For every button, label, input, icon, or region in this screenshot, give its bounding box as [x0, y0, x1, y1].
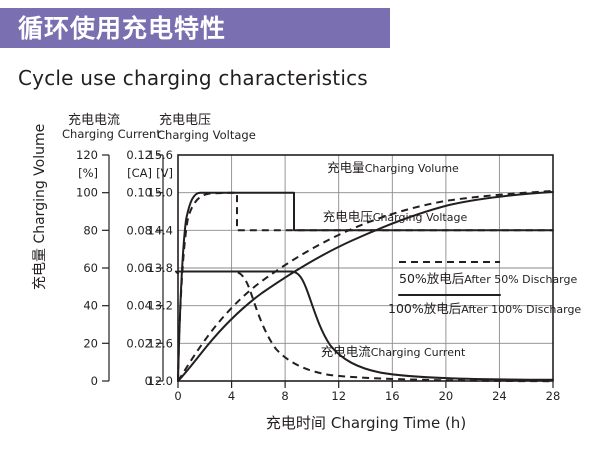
plot-annotations: 充电量Charging Volume 充电电压Charging Voltage …	[321, 160, 582, 359]
ann-d50-en: After 50% Discharge	[464, 273, 577, 286]
volume-axis-title-text: 充电量 Charging Volume	[32, 124, 48, 290]
ann-current-en: Charging Current	[371, 346, 466, 359]
volume-tick-20: 20	[83, 336, 98, 350]
voltage-tick-138: 13.8	[147, 261, 173, 275]
ann-d100-en: After 100% Discharge	[461, 303, 581, 316]
current-axis-title-en: Charging Current	[62, 127, 161, 141]
time-tick-12: 12	[331, 389, 346, 403]
volume-tick-40: 40	[83, 299, 98, 313]
voltage-tick-156: 15.6	[147, 148, 173, 162]
current-unit: [CA]	[127, 166, 152, 180]
volume-tick-100: 100	[76, 186, 98, 200]
time-tick-24: 24	[492, 389, 507, 403]
ann-current: 充电电流Charging Current	[321, 344, 466, 359]
voltage-unit: [V]	[156, 166, 173, 180]
x-axis-title-cn: 充电时间	[266, 414, 326, 432]
voltage-tick-144: 14.4	[147, 223, 173, 237]
volume-tick-80: 80	[83, 223, 98, 237]
voltage-tick-132: 13.2	[147, 299, 173, 313]
ann-volume: 充电量Charging Volume	[327, 160, 459, 175]
ann-after-50-discharge: 50%放电后After 50% Discharge	[399, 271, 577, 286]
volume-tick-0: 0	[91, 374, 98, 388]
voltage-axis-title-cn: 充电电压	[159, 112, 211, 128]
voltage-tick-150: 15.0	[147, 186, 173, 200]
x-axis-title: 充电时间 Charging Time (h)	[266, 413, 466, 432]
volume-tick-120: 120	[76, 148, 98, 162]
x-axis-labels: 0 4 8 12 16 20 24 28	[174, 389, 560, 403]
ann-current-cn: 充电电流	[321, 344, 372, 359]
voltage-tick-120: 12.0	[147, 374, 173, 388]
time-tick-8: 8	[281, 389, 288, 403]
x-axis-title-en: Charging Time (h)	[331, 414, 466, 432]
ann-volume-cn: 充电量	[327, 160, 365, 175]
time-tick-4: 4	[228, 389, 235, 403]
volume-axis: 120 [%] 100 80 60 40 20 0	[76, 148, 109, 388]
ann-after-100-discharge: 100%放电后After 100% Discharge	[388, 301, 581, 316]
ann-voltage-cn: 充电电压	[323, 209, 373, 224]
time-tick-0: 0	[174, 389, 181, 403]
volume-axis-ticks	[102, 155, 109, 381]
cycle-charging-characteristics-chart: 充电电流 Charging Current 充电电压 Charging Volt…	[0, 0, 600, 451]
voltage-tick-126: 12.6	[147, 336, 173, 350]
curve-current-100pct	[176, 272, 553, 380]
ann-voltage: 充电电压Charging Voltage	[323, 209, 468, 224]
ann-volume-en: Charging Volume	[365, 162, 459, 175]
volume-tick-60: 60	[83, 261, 98, 275]
time-tick-16: 16	[385, 389, 400, 403]
volume-axis-title-en: Charging Volume	[32, 124, 48, 244]
ann-voltage-en: Charging Voltage	[373, 211, 468, 224]
current-axis-title-cn: 充电电流	[68, 112, 120, 128]
ann-d50-cn: 50%放电后	[399, 271, 464, 286]
curve-current-50pct	[178, 272, 553, 382]
x-axis-ticks	[178, 381, 553, 388]
volume-axis-title-cn: 充电量	[32, 248, 48, 290]
time-tick-20: 20	[439, 389, 454, 403]
volume-unit: [%]	[78, 166, 98, 180]
chart-container: 充电电流 Charging Current 充电电压 Charging Volt…	[0, 0, 600, 451]
voltage-axis-title-en: Charging Voltage	[157, 128, 256, 142]
volume-axis-title: 充电量 Charging Volume	[32, 124, 48, 290]
voltage-axis: 15.6 [V] 15.0 14.4 13.8 13.2 12.6 12.0	[147, 148, 173, 388]
ann-d100-cn: 100%放电后	[388, 301, 461, 316]
time-tick-28: 28	[546, 389, 561, 403]
